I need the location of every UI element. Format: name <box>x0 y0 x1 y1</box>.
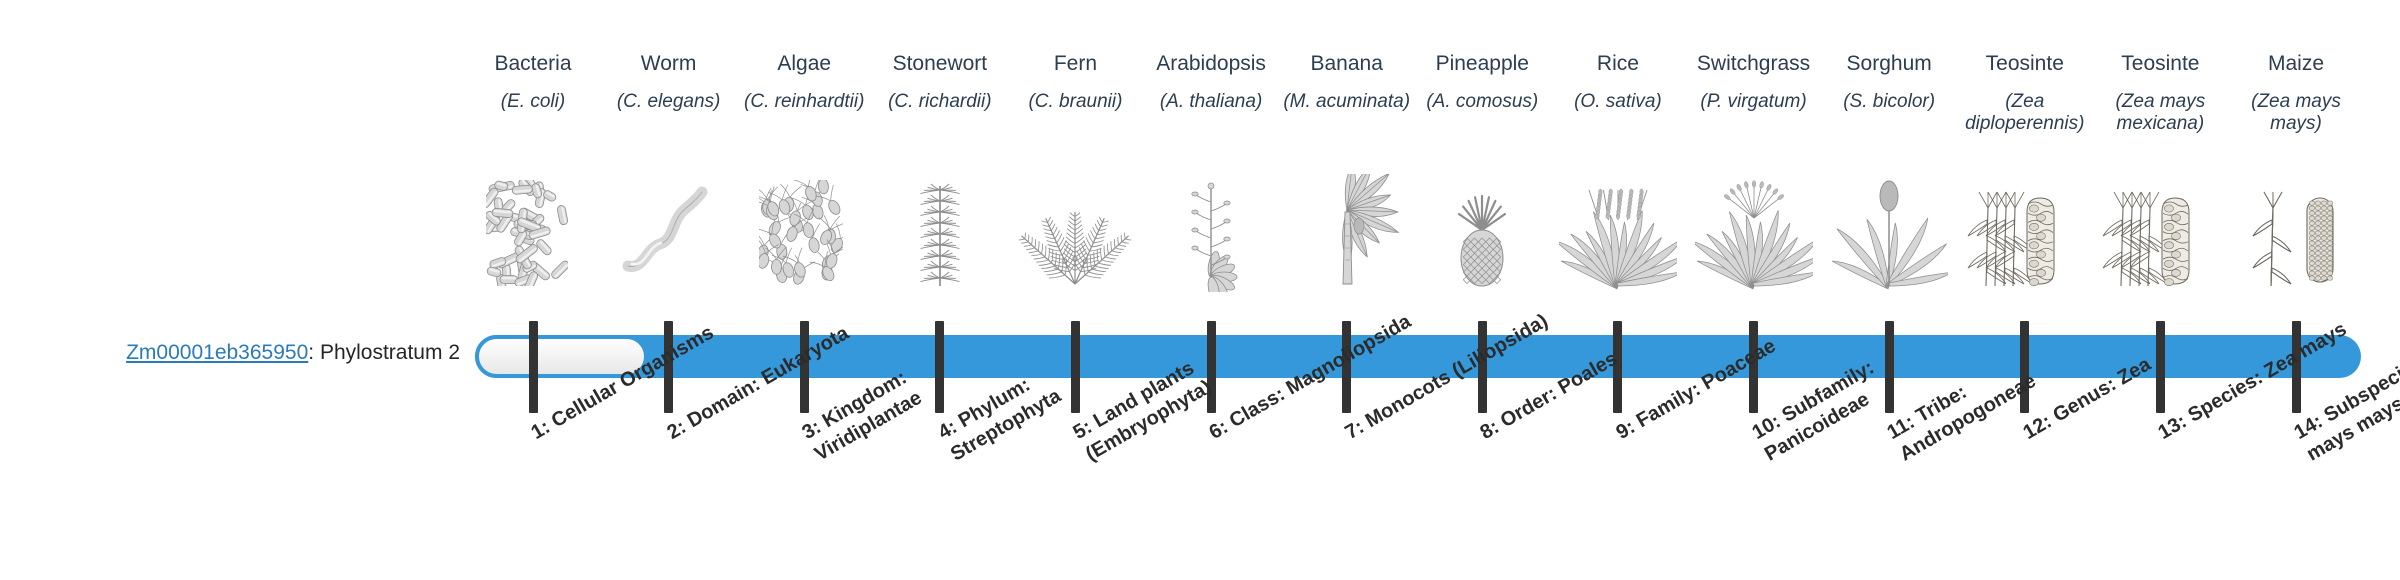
phylostratum-rank: Kingdom: Viridiplantae <box>811 367 926 466</box>
species-column-pineapple: Pineapple(A. comosus) <box>1414 52 1550 113</box>
species-scientific-name: (E. coli) <box>465 91 601 113</box>
species-common-name: Bacteria <box>465 52 601 77</box>
phylostratum-number: 1: <box>528 416 554 444</box>
organism-illustration-sorghum <box>1826 172 1952 292</box>
species-column-teosinte: Teosinte(Zea mays mexicana) <box>2092 52 2228 136</box>
species-common-name: Sorghum <box>1821 52 1957 77</box>
species-scientific-name: (O. sativa) <box>1550 91 1686 113</box>
phylostratum-number: 12: <box>2019 410 2055 444</box>
species-column-maize: Maize(Zea mays mays) <box>2228 52 2364 136</box>
organism-illustration-fern <box>1012 172 1138 292</box>
organism-illustration-switchgrass <box>1691 172 1817 292</box>
phylostratum-rank: Phylum: Streptophyta <box>947 374 1065 466</box>
organism-illustration-algae <box>741 172 867 292</box>
species-column-teosinte: Teosinte(Zea diploperennis) <box>1957 52 2093 136</box>
species-column-rice: Rice(O. sativa) <box>1550 52 1686 113</box>
species-common-name: Algae <box>736 52 872 77</box>
species-common-name: Worm <box>601 52 737 77</box>
phylostratum-number: 2: <box>663 416 689 444</box>
species-scientific-name: (S. bicolor) <box>1821 91 1957 113</box>
phylostratum-tick-1[interactable] <box>529 321 538 413</box>
gene-phylostratum-label: Zm00001eb365950: Phylostratum 2 <box>40 341 460 365</box>
species-common-name: Rice <box>1550 52 1686 77</box>
species-scientific-name: (C. richardii) <box>872 91 1008 113</box>
species-column-worm: Worm(C. elegans) <box>601 52 737 113</box>
species-scientific-name: (A. thaliana) <box>1143 91 1279 113</box>
organism-illustration-maize <box>2233 172 2359 292</box>
species-scientific-name: (C. elegans) <box>601 91 737 113</box>
species-common-name: Pineapple <box>1414 52 1550 77</box>
species-common-name: Banana <box>1279 52 1415 77</box>
phylostratum-number: 13: <box>2155 410 2191 444</box>
species-column-bacteria: Bacteria(E. coli) <box>465 52 601 113</box>
organism-illustration-worm <box>606 172 732 292</box>
phylostratum-number: 8: <box>1477 416 1503 444</box>
species-column-arabidopsis: Arabidopsis(A. thaliana) <box>1143 52 1279 113</box>
species-column-algae: Algae(C. reinhardtii) <box>736 52 872 113</box>
species-scientific-name: (M. acuminata) <box>1279 91 1415 113</box>
gene-label-separator: : <box>308 341 320 364</box>
species-common-name: Arabidopsis <box>1143 52 1279 77</box>
phylostratum-number: 6: <box>1206 416 1232 444</box>
species-common-name: Teosinte <box>2092 52 2228 77</box>
organism-illustration-teosinte <box>1962 172 2088 292</box>
species-scientific-name: (Zea mays mexicana) <box>2092 91 2228 136</box>
gene-id-link[interactable]: Zm00001eb365950 <box>126 341 308 364</box>
species-common-name: Stonewort <box>872 52 1008 77</box>
species-common-name: Switchgrass <box>1686 52 1822 77</box>
species-scientific-name: (A. comosus) <box>1414 91 1550 113</box>
phylostratum-number: 7: <box>1341 416 1367 444</box>
organism-illustration-pineapple <box>1419 172 1545 292</box>
phylostratigraphy-timeline: Zm00001eb365950: Phylostratum 2 Bacteria… <box>0 0 2400 580</box>
species-column-banana: Banana(M. acuminata) <box>1279 52 1415 113</box>
organism-illustration-arabidopsis <box>1148 172 1274 292</box>
organism-illustration-teosinte <box>2097 172 2223 292</box>
species-common-name: Maize <box>2228 52 2364 77</box>
organism-illustration-banana <box>1284 172 1410 292</box>
gene-phylostratum-value: Phylostratum 2 <box>320 341 460 364</box>
species-column-stonewort: Stonewort(C. richardii) <box>872 52 1008 113</box>
species-scientific-name: (Zea diploperennis) <box>1957 91 2093 136</box>
species-scientific-name: (P. virgatum) <box>1686 91 1822 113</box>
organism-illustration-stonewort <box>877 172 1003 292</box>
species-common-name: Fern <box>1007 52 1143 77</box>
organism-illustration-bacteria <box>470 172 596 292</box>
species-scientific-name: (C. reinhardtii) <box>736 91 872 113</box>
species-column-sorghum: Sorghum(S. bicolor) <box>1821 52 1957 113</box>
species-common-name: Teosinte <box>1957 52 2093 77</box>
phylostratum-number: 9: <box>1612 416 1638 444</box>
species-column-switchgrass: Switchgrass(P. virgatum) <box>1686 52 1822 113</box>
species-scientific-name: (Zea mays mays) <box>2228 91 2364 136</box>
organism-illustration-rice <box>1555 172 1681 292</box>
phylostratum-rank: Tribe: Andropogoneae <box>1896 370 2040 466</box>
species-column-fern: Fern(C. braunii) <box>1007 52 1143 113</box>
species-scientific-name: (C. braunii) <box>1007 91 1143 113</box>
